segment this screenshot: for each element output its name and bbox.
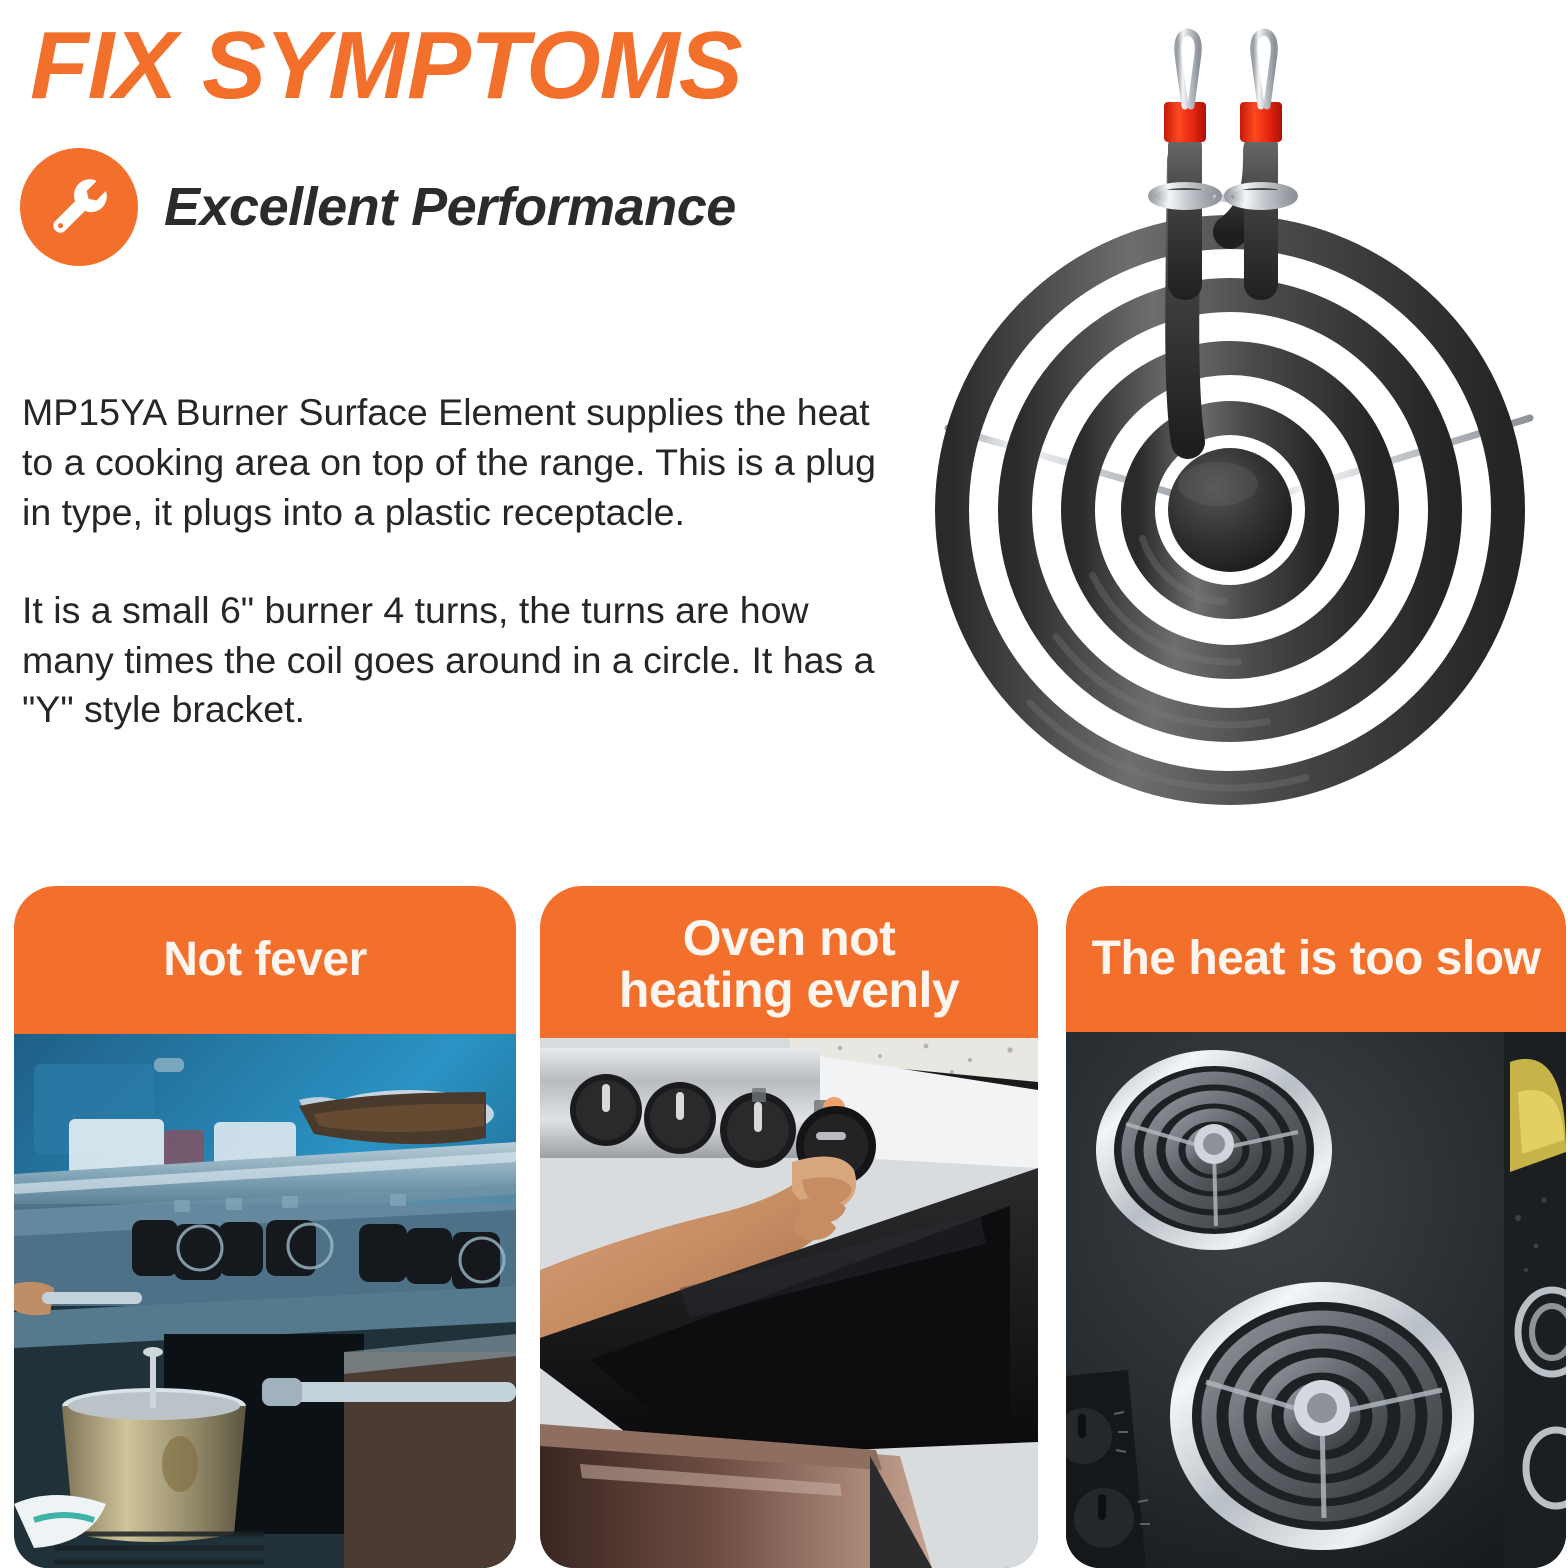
- description-paragraph-2: It is a small 6" burner 4 turns, the tur…: [22, 586, 902, 736]
- symptom-panel-label: Not fever: [14, 886, 516, 1034]
- commercial-kitchen-range-photo: [14, 1034, 516, 1568]
- symptom-panel-label: Oven not heating evenly: [540, 886, 1038, 1038]
- terminal-bracket-clips: [1151, 185, 1295, 207]
- symptom-panels: Not fever: [0, 886, 1568, 1568]
- symptom-panel-oven-not-heating-evenly[interactable]: Oven not heating evenly: [540, 886, 1038, 1568]
- subtitle: Excellent Performance: [164, 176, 736, 238]
- burner-upper: [1096, 1050, 1332, 1250]
- description-paragraph-1: MP15YA Burner Surface Element supplies t…: [22, 388, 902, 538]
- subtitle-row: Excellent Performance: [20, 148, 736, 266]
- electric-cooktop-coil-burners-photo: [1066, 1032, 1566, 1568]
- terminal-tube-right: [1244, 130, 1278, 300]
- symptom-panel-label: The heat is too slow: [1066, 886, 1566, 1032]
- symptom-panel-not-fever[interactable]: Not fever: [14, 886, 516, 1568]
- product-image-burner-element: [930, 10, 1560, 860]
- terminal-tube-left: [1168, 130, 1202, 300]
- wrench-icon: [45, 173, 113, 241]
- page-title: FIX SYMPTOMS: [30, 18, 930, 114]
- wrench-icon-badge: [20, 148, 138, 266]
- hand-turning-oven-knob-photo: [540, 1038, 1038, 1568]
- product-description: MP15YA Burner Surface Element supplies t…: [22, 388, 902, 735]
- burner-lower: [1170, 1282, 1474, 1550]
- terminal-blades: [1178, 32, 1275, 106]
- symptom-panel-heat-too-slow[interactable]: The heat is too slow: [1066, 886, 1566, 1568]
